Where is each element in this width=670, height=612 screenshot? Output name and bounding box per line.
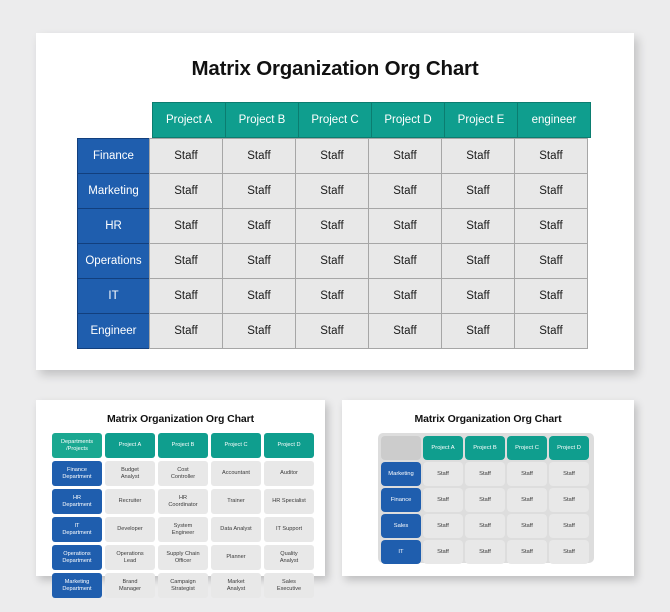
dept-line2: Department [62,502,91,508]
cell-hr-project-e[interactable]: Staff [441,208,515,244]
tr-cell-marketing-c[interactable]: Staff [507,462,547,486]
cell-hr-project-b[interactable]: Staff [222,208,296,244]
tr-cell-it-c[interactable]: Staff [507,540,547,564]
dept-line2: Department [62,474,91,480]
list-item: OperationsDepartment OperationsLead Supp… [52,545,317,570]
tr-cell-it-a[interactable]: Staff [423,540,463,564]
table-row: Marketing Staff Staff Staff Staff Staff … [77,173,588,209]
cell-marketing-project-c[interactable]: Staff [295,173,369,209]
cell-it-engineer[interactable]: Staff [514,278,588,314]
row-header-operations[interactable]: Operations [77,243,150,279]
cell-marketing-project-d[interactable]: Staff [368,173,442,209]
cell-engineer-project-e[interactable]: Staff [441,313,515,349]
row-header-finance[interactable]: Finance [77,138,150,174]
list-item: Sales Staff Staff Staff Staff [381,514,591,538]
matrix-body: Finance Staff Staff Staff Staff Staff St… [77,138,588,348]
list-item: FinanceDepartment BudgetAnalyst CostCont… [52,461,317,486]
tr-column-header-project-b[interactable]: Project B [465,436,505,460]
row-header-it[interactable]: IT [77,278,150,314]
tr-row-header-finance[interactable]: Finance [381,488,421,512]
tr-cell-finance-d[interactable]: Staff [549,488,589,512]
table-row: Engineer Staff Staff Staff Staff Staff S… [77,313,588,349]
thumbnail-slide-right[interactable]: Matrix Organization Org Chart Project A … [342,400,634,576]
thumbnail-left-title: Matrix Organization Org Chart [36,413,325,425]
table-row: HR Staff Staff Staff Staff Staff Staff [77,208,588,244]
tr-cell-sales-c[interactable]: Staff [507,514,547,538]
tr-cell-finance-a[interactable]: Staff [423,488,463,512]
tr-cell-sales-a[interactable]: Staff [423,514,463,538]
thumbnail-slide-left[interactable]: Matrix Organization Org Chart Department… [36,400,325,576]
tr-cell-marketing-d[interactable]: Staff [549,462,589,486]
cell-operations-project-c[interactable]: Staff [295,243,369,279]
tl-cell-marketing-a[interactable]: BrandManager [105,573,155,598]
tl-cell-hr-a[interactable]: Recruiter [105,489,155,514]
dept-line1: Operations [63,551,90,557]
cell-finance-project-d[interactable]: Staff [368,138,442,174]
tl-cell-finance-c[interactable]: Accountant [211,461,261,486]
dept-line1: Finance [67,467,87,473]
tl-row-header-operations[interactable]: OperationsDepartment [52,545,102,570]
row-header-marketing[interactable]: Marketing [77,173,150,209]
tr-cell-sales-d[interactable]: Staff [549,514,589,538]
tr-cell-finance-b[interactable]: Staff [465,488,505,512]
corner-label-line1: Departments [61,439,93,445]
table-row: Finance Staff Staff Staff Staff Staff St… [77,138,588,174]
column-header-project-a[interactable]: Project A [152,102,226,138]
cell-engineer-project-a[interactable]: Staff [149,313,223,349]
cell-marketing-project-e[interactable]: Staff [441,173,515,209]
page-title: Matrix Organization Org Chart [36,57,634,81]
thumbnail-right-matrix: Project A Project B Project C Project D … [381,436,591,566]
cell-engineer-project-d[interactable]: Staff [368,313,442,349]
tl-cell-finance-b[interactable]: CostController [158,461,208,486]
tr-column-header-project-d[interactable]: Project D [549,436,589,460]
corner-departments-projects: Departments /Projects [52,433,102,458]
matrix-header-row: Project A Project B Project C Project D … [152,102,590,138]
cell-finance-project-c[interactable]: Staff [295,138,369,174]
tl-cell-marketing-c[interactable]: MarketAnalyst [211,573,261,598]
column-header-project-d[interactable]: Project D [371,102,445,138]
tl-cell-hr-d[interactable]: HR Specialist [264,489,314,514]
cell-it-project-e[interactable]: Staff [441,278,515,314]
tr-column-header-project-a[interactable]: Project A [423,436,463,460]
tr-cell-marketing-a[interactable]: Staff [423,462,463,486]
list-item: MarketingDepartment BrandManager Campaig… [52,573,317,598]
cell-operations-engineer[interactable]: Staff [514,243,588,279]
tl-row-header-finance[interactable]: FinanceDepartment [52,461,102,486]
cell-operations-project-b[interactable]: Staff [222,243,296,279]
cell-engineer-project-c[interactable]: Staff [295,313,369,349]
list-item: IT Staff Staff Staff Staff [381,540,591,564]
tl-cell-finance-d[interactable]: Auditor [264,461,314,486]
cell-engineer-project-b[interactable]: Staff [222,313,296,349]
tl-cell-operations-d[interactable]: QualityAnalyst [264,545,314,570]
list-item: ITDepartment Developer SystemEngineer Da… [52,517,317,542]
thumbnail-left-header-row: Departments /Projects Project A Project … [52,433,317,458]
tr-row-header-sales[interactable]: Sales [381,514,421,538]
tl-column-header-project-a[interactable]: Project A [105,433,155,458]
tl-cell-operations-b[interactable]: Supply ChainOfficer [158,545,208,570]
main-slide-card: Matrix Organization Org Chart Project A … [36,33,634,370]
tr-column-header-project-c[interactable]: Project C [507,436,547,460]
cell-engineer-engineer[interactable]: Staff [514,313,588,349]
dept-line1: IT [75,523,80,529]
cell-hr-engineer[interactable]: Staff [514,208,588,244]
tl-column-header-project-b[interactable]: Project B [158,433,208,458]
row-header-engineer[interactable]: Engineer [77,313,150,349]
thumbnail-right-panel: Project A Project B Project C Project D … [378,433,594,563]
tl-cell-marketing-b[interactable]: CampaignStrategist [158,573,208,598]
tl-cell-it-d[interactable]: IT Support [264,517,314,542]
tr-row-header-it[interactable]: IT [381,540,421,564]
tl-cell-operations-a[interactable]: OperationsLead [105,545,155,570]
column-header-project-b[interactable]: Project B [225,102,299,138]
dept-line2: Department [62,586,91,592]
cell-marketing-project-a[interactable]: Staff [149,173,223,209]
list-item: HRDepartment Recruiter HRCoordinator Tra… [52,489,317,514]
tl-cell-marketing-d[interactable]: SalesExecutive [264,573,314,598]
cell-finance-project-e[interactable]: Staff [441,138,515,174]
cell-it-project-c[interactable]: Staff [295,278,369,314]
tr-row-header-marketing[interactable]: Marketing [381,462,421,486]
cell-operations-project-a[interactable]: Staff [149,243,223,279]
cell-operations-project-e[interactable]: Staff [441,243,515,279]
tl-row-header-it[interactable]: ITDepartment [52,517,102,542]
dept-line2: Department [62,530,91,536]
tl-column-header-project-d[interactable]: Project D [264,433,314,458]
tr-cell-marketing-b[interactable]: Staff [465,462,505,486]
corner-empty-cell [381,436,421,460]
dept-line1: Marketing [65,579,90,585]
tl-cell-operations-c[interactable]: Planner [211,545,261,570]
row-header-hr[interactable]: HR [77,208,150,244]
tl-cell-it-b[interactable]: SystemEngineer [158,517,208,542]
tl-cell-finance-a[interactable]: BudgetAnalyst [105,461,155,486]
corner-label-line2: /Projects [66,446,88,452]
thumbnail-right-header-row: Project A Project B Project C Project D [381,436,591,460]
cell-it-project-d[interactable]: Staff [368,278,442,314]
tr-cell-sales-b[interactable]: Staff [465,514,505,538]
cell-it-project-a[interactable]: Staff [149,278,223,314]
column-header-project-c[interactable]: Project C [298,102,372,138]
cell-operations-project-d[interactable]: Staff [368,243,442,279]
cell-finance-engineer[interactable]: Staff [514,138,588,174]
cell-hr-project-c[interactable]: Staff [295,208,369,244]
tl-cell-it-c[interactable]: Data Analyst [211,517,261,542]
table-row: IT Staff Staff Staff Staff Staff Staff [77,278,588,314]
tr-cell-it-d[interactable]: Staff [549,540,589,564]
cell-hr-project-a[interactable]: Staff [149,208,223,244]
thumbnail-left-matrix: Departments /Projects Project A Project … [52,433,317,601]
list-item: Marketing Staff Staff Staff Staff [381,462,591,486]
column-header-project-e[interactable]: Project E [444,102,518,138]
cell-marketing-project-b[interactable]: Staff [222,173,296,209]
list-item: Finance Staff Staff Staff Staff [381,488,591,512]
cell-finance-project-a[interactable]: Staff [149,138,223,174]
dept-line1: HR [73,495,81,501]
column-header-engineer[interactable]: engineer [517,102,591,138]
tl-row-header-marketing[interactable]: MarketingDepartment [52,573,102,598]
tr-cell-finance-c[interactable]: Staff [507,488,547,512]
cell-finance-project-b[interactable]: Staff [222,138,296,174]
tl-cell-hr-b[interactable]: HRCoordinator [158,489,208,514]
tr-cell-it-b[interactable]: Staff [465,540,505,564]
dept-line2: Department [62,558,91,564]
cell-it-project-b[interactable]: Staff [222,278,296,314]
tl-column-header-project-c[interactable]: Project C [211,433,261,458]
tl-cell-it-a[interactable]: Developer [105,517,155,542]
thumbnail-right-title: Matrix Organization Org Chart [342,413,634,425]
tl-row-header-hr[interactable]: HRDepartment [52,489,102,514]
cell-hr-project-d[interactable]: Staff [368,208,442,244]
tl-cell-hr-c[interactable]: Trainer [211,489,261,514]
cell-marketing-engineer[interactable]: Staff [514,173,588,209]
table-row: Operations Staff Staff Staff Staff Staff… [77,243,588,279]
